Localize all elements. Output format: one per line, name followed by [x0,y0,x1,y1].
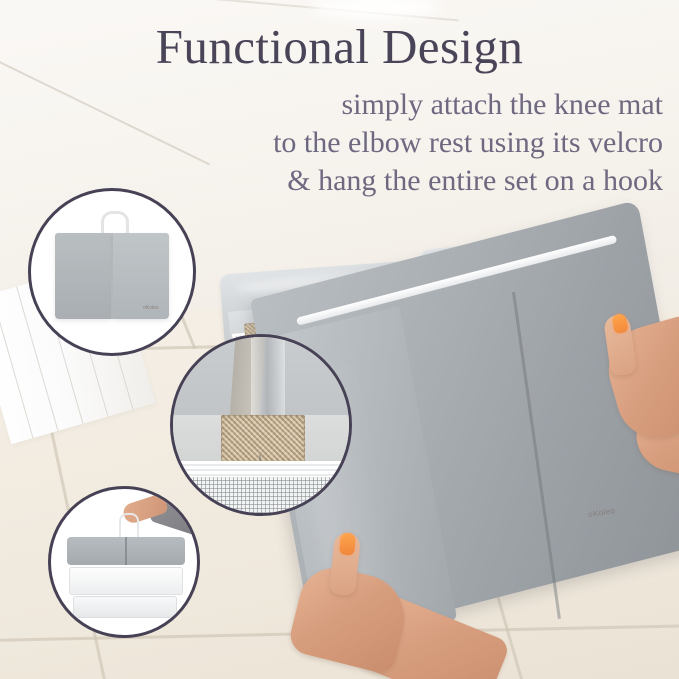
inset-folded-mat-hanging: oKoleo [28,188,196,356]
left-thumbnail-polish [339,532,356,555]
mat-fold-seam [125,537,127,565]
page-title: Functional Design [0,22,679,73]
subtitle-line-1: simply attach the knee mat [0,86,663,124]
white-elbow-rest-lower [73,596,177,618]
mat-fold-seam [111,233,113,319]
mat-panel-left [55,233,111,319]
white-elbow-rest-upper [69,567,183,595]
subtitle-block: simply attach the knee mat to the elbow … [0,86,679,200]
inset-brand-badge: oKoleo [143,305,159,311]
subtitle-line-2: to the elbow rest using its velcro [0,124,663,162]
product-marketing-image: oKoleo Functional Design simply attach t… [0,0,679,679]
inset-velcro-closeup [170,334,352,516]
velcro-patch [221,415,305,463]
white-mesh-panel [173,477,349,516]
mat-panel-right [113,233,169,319]
